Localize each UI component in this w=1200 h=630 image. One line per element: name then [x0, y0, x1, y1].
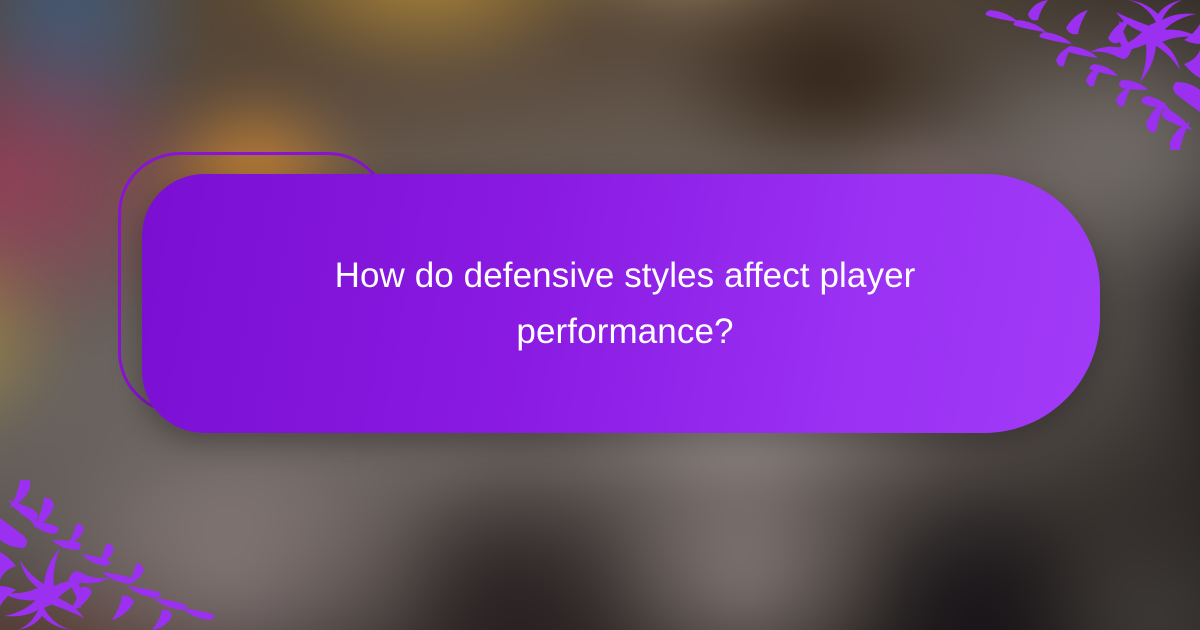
question-card[interactable]: How do defensive styles affect player pe… — [142, 174, 1100, 433]
question-text: How do defensive styles affect player pe… — [305, 248, 945, 360]
screenshot-stage: How do defensive styles affect player pe… — [0, 0, 1200, 630]
